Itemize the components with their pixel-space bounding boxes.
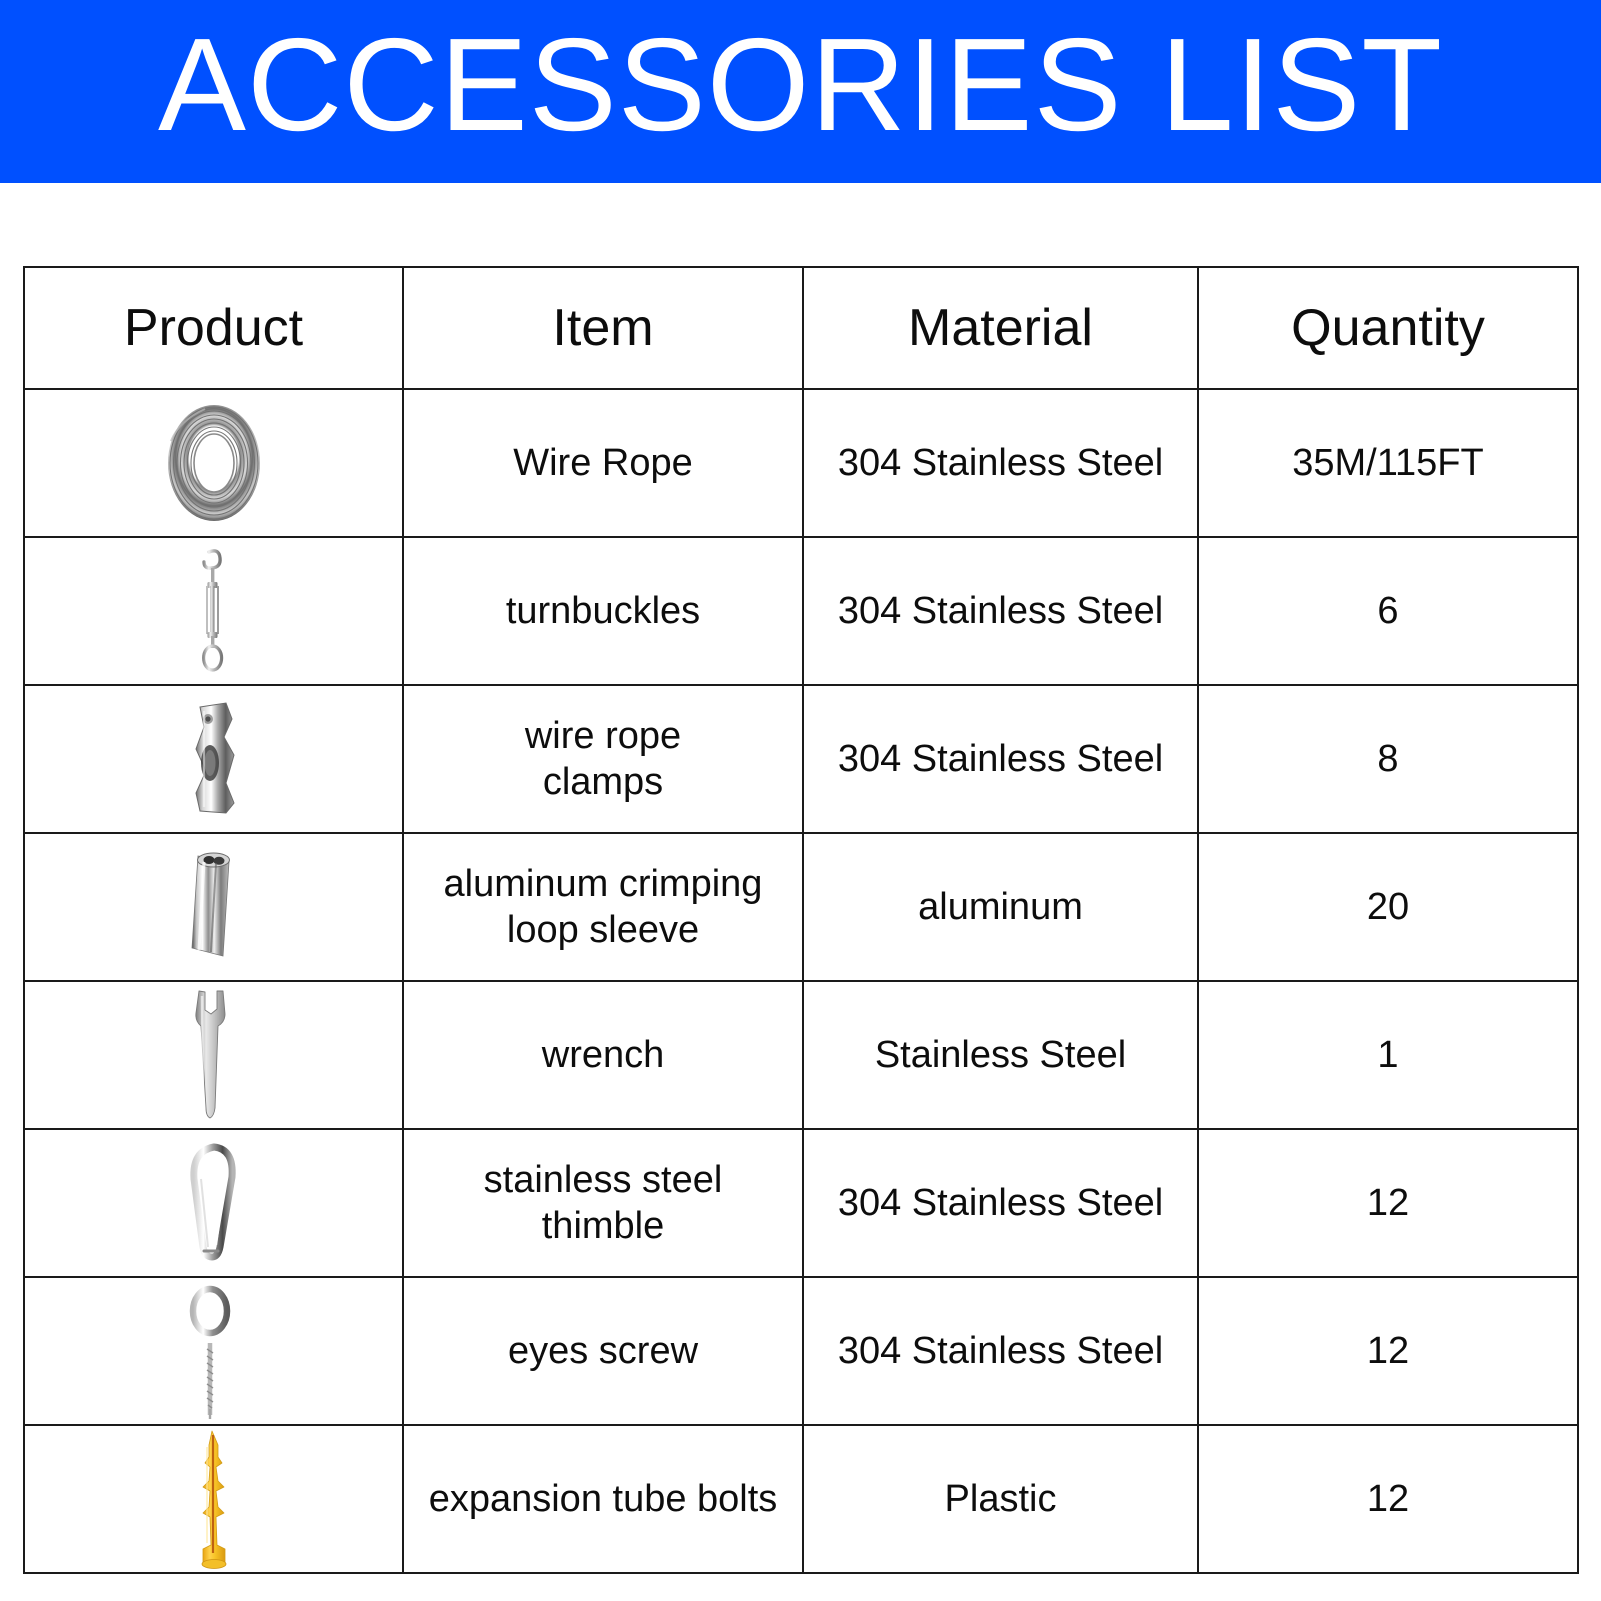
wrench-icon xyxy=(175,988,253,1123)
product-image-cell xyxy=(24,1129,403,1277)
product-image-cell xyxy=(24,1425,403,1573)
material-name: 304 Stainless Steel xyxy=(803,685,1198,833)
header-banner: ACCESSORIES LIST xyxy=(0,0,1601,183)
material-name: aluminum xyxy=(803,833,1198,981)
wire-rope-coil-icon xyxy=(149,401,279,525)
table-header: Product Item Material Quantity xyxy=(24,267,1578,389)
item-name-line1: wire rope xyxy=(404,713,802,759)
column-header-item: Item xyxy=(403,267,803,389)
stainless-steel-thimble-icon xyxy=(174,1139,254,1267)
table-row: eyes screw 304 Stainless Steel 12 xyxy=(24,1277,1578,1425)
item-name-line1: stainless steel xyxy=(404,1157,802,1203)
product-image-cell xyxy=(24,685,403,833)
item-name-line2: thimble xyxy=(404,1203,802,1249)
table-row: wire rope clamps 304 Stainless Steel 8 xyxy=(24,685,1578,833)
product-image-cell xyxy=(24,1277,403,1425)
wire-rope-clamp-icon xyxy=(174,697,254,821)
item-name: Wire Rope xyxy=(403,389,803,537)
page-title: ACCESSORIES LIST xyxy=(158,19,1443,165)
table-row: stainless steel thimble 304 Stainless St… xyxy=(24,1129,1578,1277)
quantity-value: 1 xyxy=(1198,981,1578,1129)
quantity-value: 6 xyxy=(1198,537,1578,685)
table-row: wrench Stainless Steel 1 xyxy=(24,981,1578,1129)
material-name: 304 Stainless Steel xyxy=(803,389,1198,537)
product-image-cell xyxy=(24,981,403,1129)
table-header-row: Product Item Material Quantity xyxy=(24,267,1578,389)
quantity-value: 8 xyxy=(1198,685,1578,833)
eye-screw-icon xyxy=(176,1281,252,1421)
item-name: stainless steel thimble xyxy=(403,1129,803,1277)
table-body: Wire Rope 304 Stainless Steel 35M/115FT xyxy=(24,389,1578,1573)
product-image-cell xyxy=(24,537,403,685)
aluminum-crimping-sleeve-icon xyxy=(171,846,257,968)
expansion-tube-bolt-icon xyxy=(182,1427,246,1572)
item-name: turnbuckles xyxy=(403,537,803,685)
item-name-line2: clamps xyxy=(404,759,802,805)
material-name: 304 Stainless Steel xyxy=(803,1129,1198,1277)
quantity-value: 12 xyxy=(1198,1129,1578,1277)
material-name: 304 Stainless Steel xyxy=(803,1277,1198,1425)
table-row: expansion tube bolts Plastic 12 xyxy=(24,1425,1578,1573)
item-name: eyes screw xyxy=(403,1277,803,1425)
quantity-value: 12 xyxy=(1198,1277,1578,1425)
item-name: wire rope clamps xyxy=(403,685,803,833)
item-name-line1: aluminum crimping xyxy=(404,861,802,907)
column-header-product: Product xyxy=(24,267,403,389)
item-name-line2: loop sleeve xyxy=(404,907,802,953)
quantity-value: 35M/115FT xyxy=(1198,389,1578,537)
column-header-material: Material xyxy=(803,267,1198,389)
material-name: 304 Stainless Steel xyxy=(803,537,1198,685)
item-name: expansion tube bolts xyxy=(403,1425,803,1573)
item-name: aluminum crimping loop sleeve xyxy=(403,833,803,981)
table-row: aluminum crimping loop sleeve aluminum 2… xyxy=(24,833,1578,981)
table-row: Wire Rope 304 Stainless Steel 35M/115FT xyxy=(24,389,1578,537)
material-name: Plastic xyxy=(803,1425,1198,1573)
accessories-table: Product Item Material Quantity xyxy=(23,266,1579,1574)
table-row: turnbuckles 304 Stainless Steel 6 xyxy=(24,537,1578,685)
turnbuckle-icon xyxy=(179,546,249,676)
column-header-quantity: Quantity xyxy=(1198,267,1578,389)
quantity-value: 12 xyxy=(1198,1425,1578,1573)
quantity-value: 20 xyxy=(1198,833,1578,981)
material-name: Stainless Steel xyxy=(803,981,1198,1129)
product-image-cell xyxy=(24,389,403,537)
item-name: wrench xyxy=(403,981,803,1129)
product-image-cell xyxy=(24,833,403,981)
